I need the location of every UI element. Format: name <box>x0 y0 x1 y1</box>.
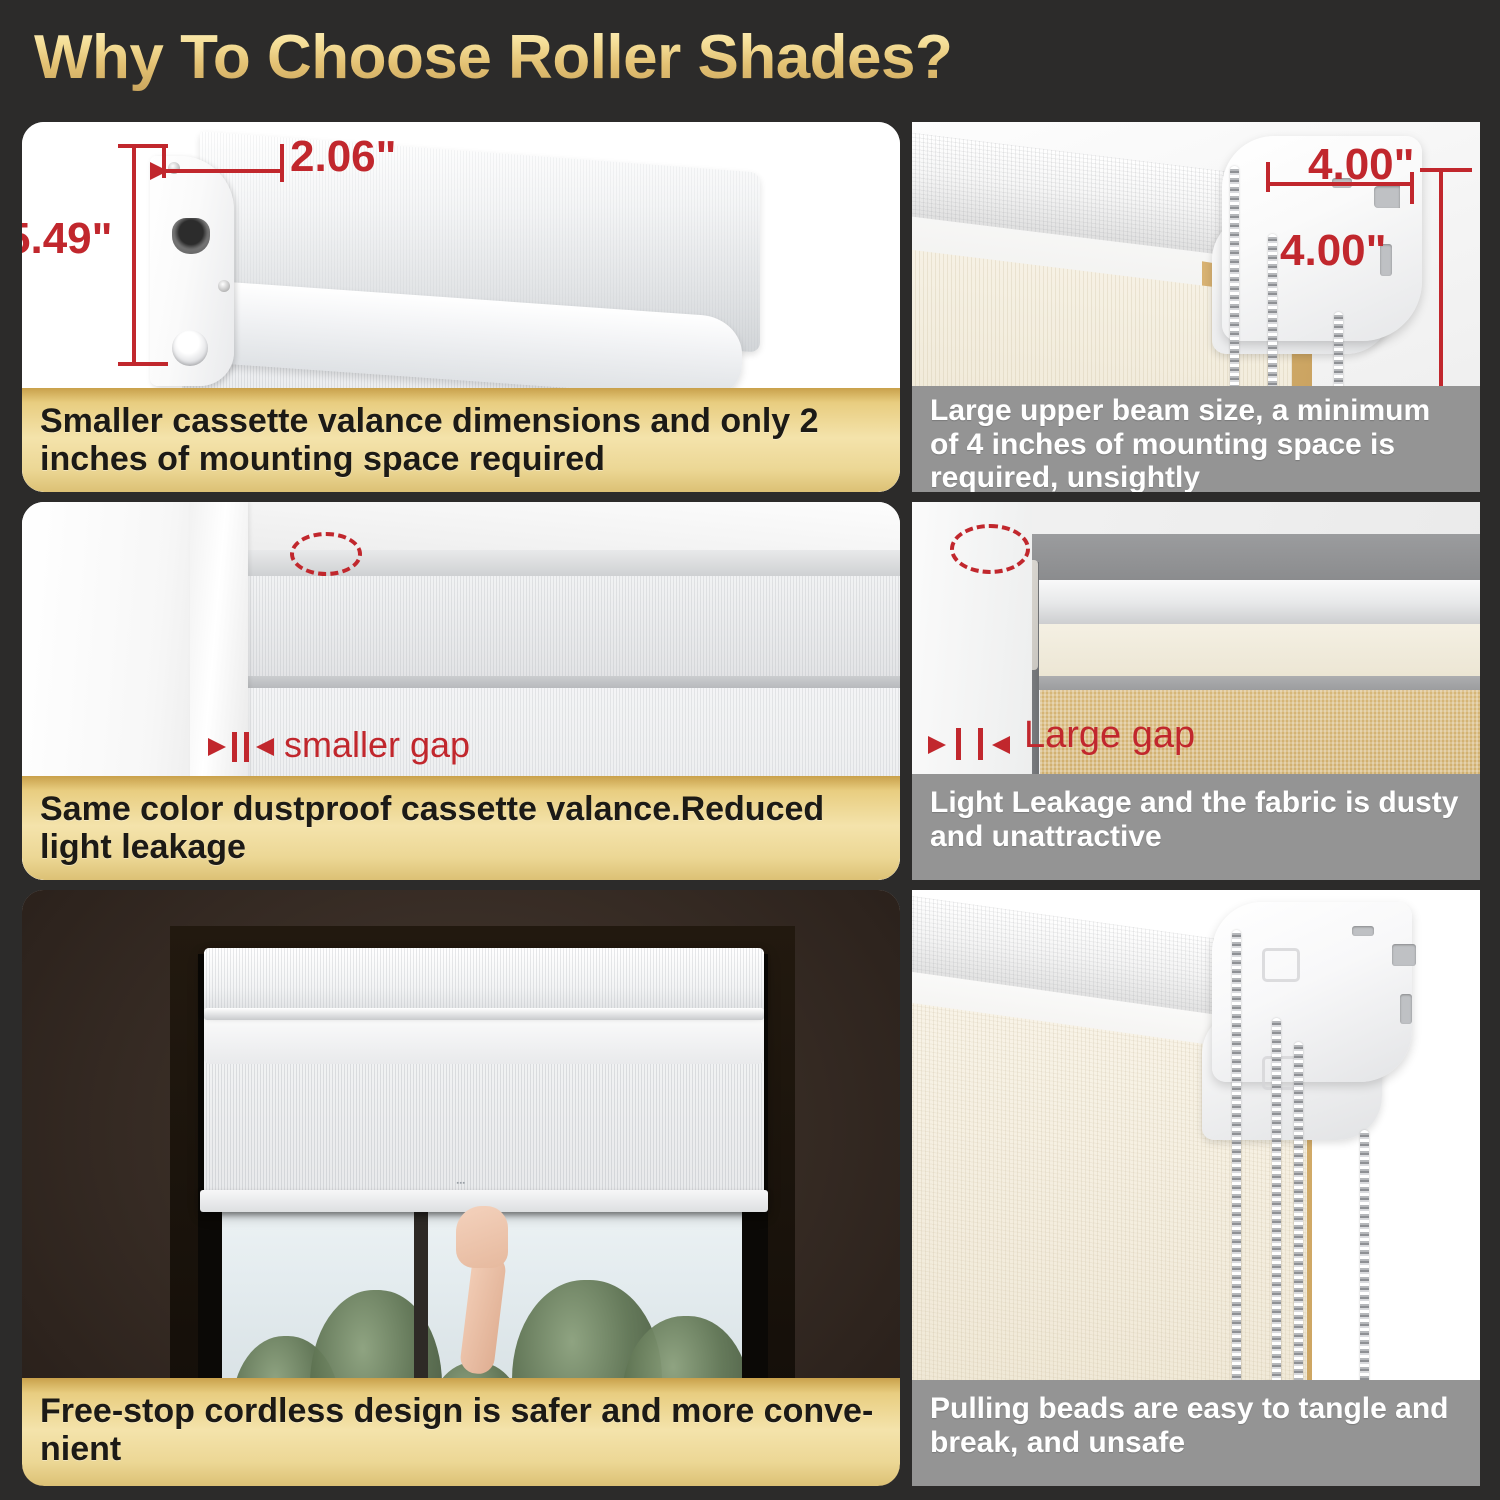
cassette-valance <box>204 948 764 1014</box>
gap-arrow-left <box>992 736 1010 754</box>
height-dim-tick-top <box>118 144 168 148</box>
beam-width-tick-left <box>1266 162 1270 192</box>
bracket-socket-icon <box>172 218 210 254</box>
bracket-slot <box>1392 944 1416 966</box>
caption-bad-large-gap: Light Leakage and the fabric is dusty an… <box>912 774 1480 880</box>
panel-bad-large-gap: Large gap Light Leakage and the fabric i… <box>912 502 1480 880</box>
caption-bad-large-upper-beam: Large upper beam size, a minimum of 4 in… <box>912 386 1480 492</box>
gap-arrow-left <box>256 738 274 756</box>
beam-depth-label: 4.00" <box>1280 226 1387 276</box>
bracket-slot <box>1352 926 1374 936</box>
gap-label: Large gap <box>1024 714 1195 757</box>
gap-arrow-right <box>928 736 946 754</box>
width-dim-tick-left <box>162 144 166 178</box>
width-dim-tick-right <box>280 144 284 182</box>
bracket-slot <box>1400 994 1412 1024</box>
upper-beam-top <box>1022 534 1480 580</box>
brand-logo: ▪▪▪ <box>457 1180 466 1187</box>
shade-fabric-upper <box>248 564 900 676</box>
comparison-grid: 2.06" 5.49" Smaller cassette valance dim… <box>0 108 1500 1500</box>
gap-edge-left <box>232 732 237 762</box>
caption-bad-pulling-beads: Pulling beads are easy to tangle and bre… <box>912 1380 1480 1486</box>
gap-edge-right <box>244 732 249 762</box>
width-dimension-line <box>162 169 284 173</box>
gap-edge-left <box>956 728 961 760</box>
height-dim-tick-bottom <box>118 362 168 366</box>
beam-depth-tick-top <box>1420 168 1472 172</box>
gap-edge-right <box>978 728 983 760</box>
caption-good-cordless-design: Free-stop cordless design is safer and m… <box>22 1378 900 1486</box>
valance-lip <box>204 1008 764 1020</box>
beam-width-label: 4.00" <box>1308 140 1415 190</box>
gap-label: smaller gap <box>284 724 470 766</box>
upper-bracket <box>1212 902 1412 1082</box>
panel-good-cordless-design: ▪▪▪ Free-stop cordless design is safer a… <box>22 890 900 1486</box>
panel-good-cassette-dimensions: 2.06" 5.49" Smaller cassette valance dim… <box>22 122 900 492</box>
highlight-ellipse-annotation <box>290 532 362 576</box>
caption-good-smaller-gap: Same color dustproof cassette valance.Re… <box>22 776 900 880</box>
hand-icon <box>454 1206 508 1356</box>
screw-icon <box>218 280 230 292</box>
height-dimension-label: 5.49" <box>22 214 113 264</box>
adjuster-knob-icon <box>172 330 208 366</box>
panel-bad-large-upper-beam: 4.00" 4.00" Large upper beam size, a min… <box>912 122 1480 492</box>
highlight-ellipse-annotation <box>950 524 1030 574</box>
height-dimension-line <box>132 144 136 366</box>
page-title: Why To Choose Roller Shades? <box>34 22 952 93</box>
panel-bad-pulling-beads: Pulling beads are easy to tangle and bre… <box>912 890 1480 1486</box>
width-dimension-label: 2.06" <box>290 132 397 182</box>
caption-good-cassette-dimensions: Smaller cassette valance dimensions and … <box>22 388 900 492</box>
header: Why To Choose Roller Shades? <box>0 0 1500 108</box>
roller-rail <box>204 1016 764 1064</box>
panel-good-smaller-gap: smaller gap Same color dustproof cassett… <box>22 502 900 880</box>
bracket-emblem-icon <box>1262 948 1300 982</box>
gap-arrow-right <box>208 738 226 756</box>
